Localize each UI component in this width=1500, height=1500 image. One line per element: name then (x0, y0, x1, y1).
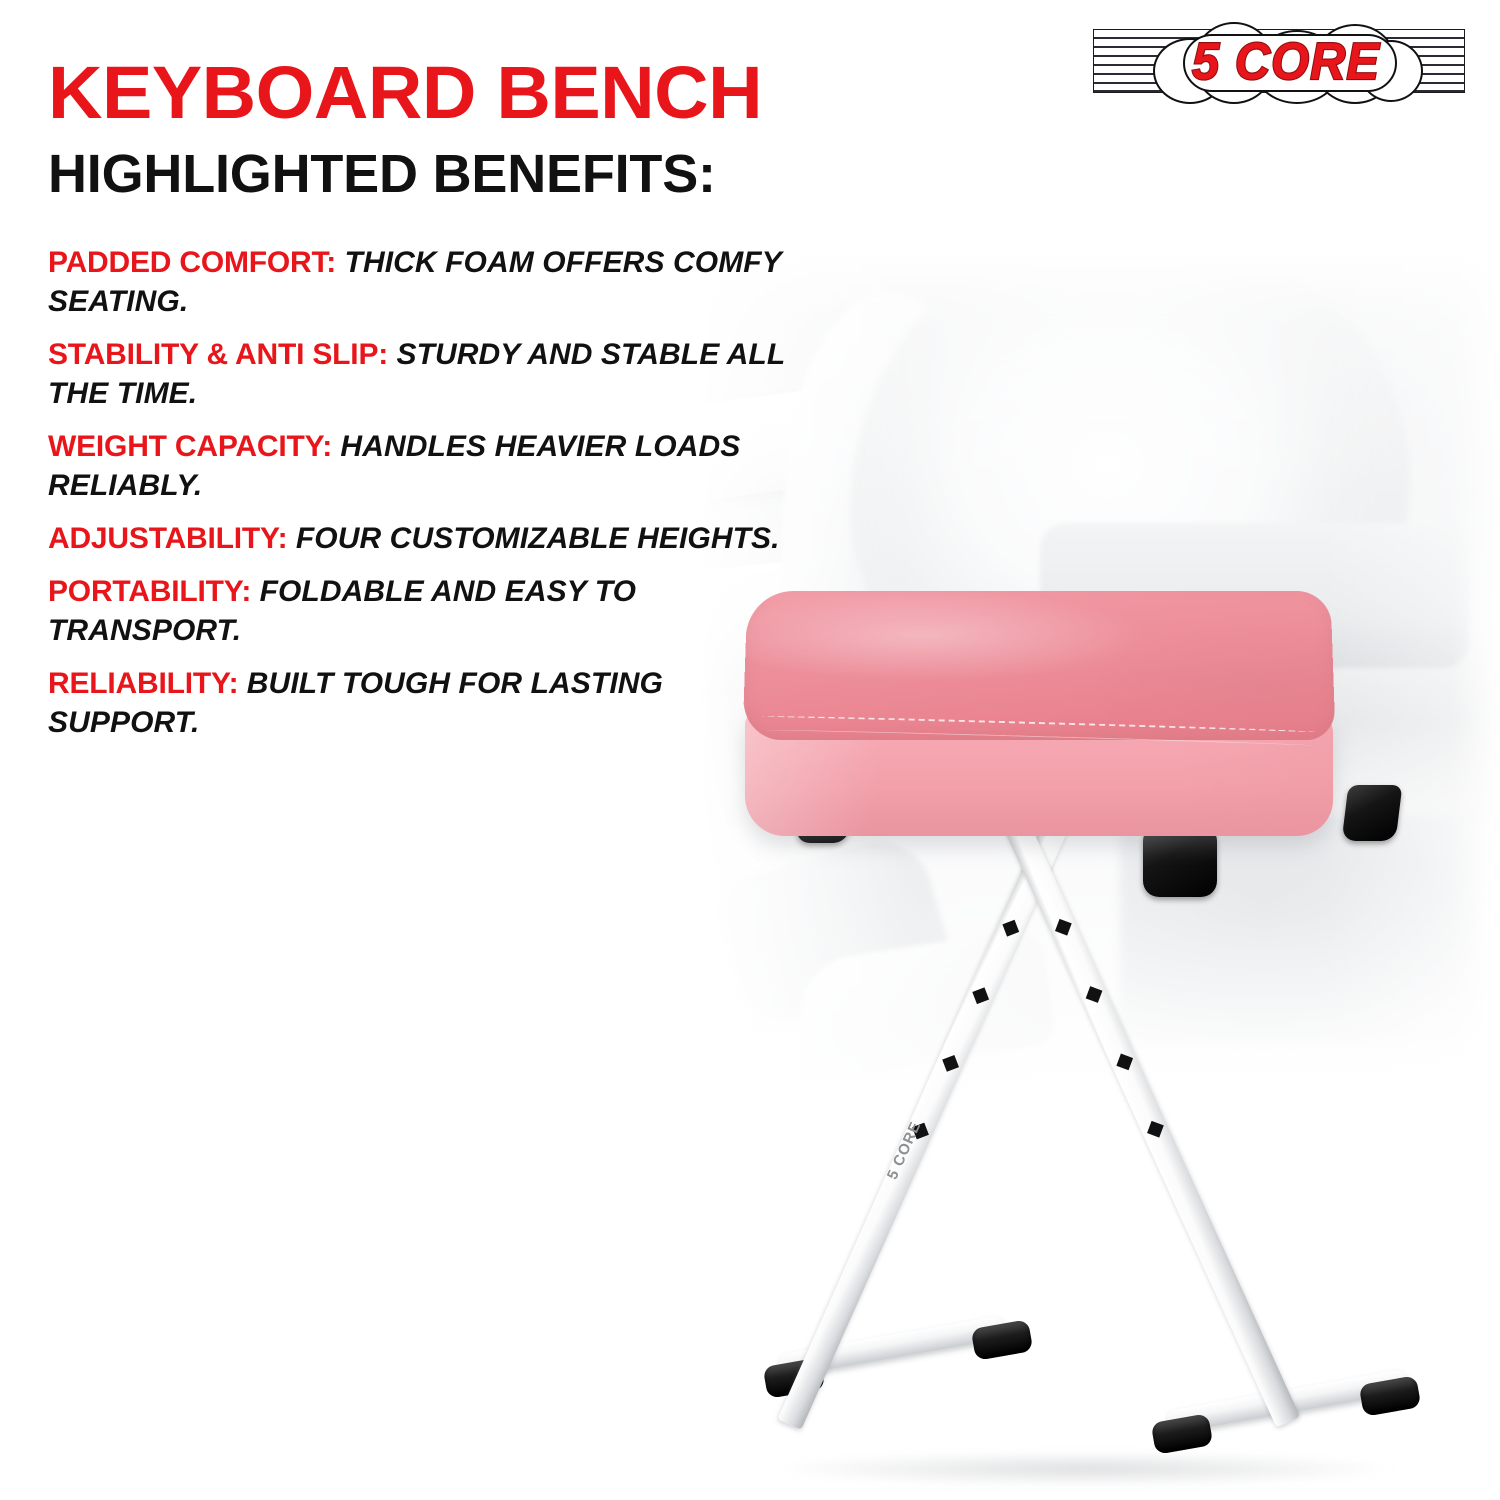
seat-bracket-right (1342, 785, 1403, 841)
benefit-item-reliability: RELIABILITY: BUILT TOUGH FOR LASTING SUP… (48, 664, 793, 742)
page-title: KEYBOARD BENCH (48, 57, 762, 128)
leg-brand-label: 5 CORE (884, 1119, 937, 1188)
logo-wordmark: 5 CORE (1154, 25, 1419, 97)
benefit-item-padded-comfort: PADDED COMFORT: THICK FOAM OFFERS COMFY … (48, 243, 793, 321)
page-subtitle: HIGHLIGHTED BENEFITS: (48, 147, 716, 201)
benefit-key: WEIGHT CAPACITY: (48, 430, 332, 463)
benefits-list: PADDED COMFORT: THICK FOAM OFFERS COMFY … (48, 243, 793, 756)
benefit-key: RELIABILITY: (48, 667, 238, 700)
benefit-text: FOUR CUSTOMIZABLE HEIGHTS. (287, 522, 779, 555)
seat-cushion (745, 590, 1333, 838)
product-infographic-page: KEYBOARD BENCH HIGHLIGHTED BENEFITS: PAD… (0, 0, 1500, 1500)
benefit-item-stability-anti-slip: STABILITY & ANTI SLIP: STURDY AND STABLE… (48, 335, 793, 413)
keyboard-bench-product: 5 CORE (735, 590, 1455, 1480)
5-core-logo: 5 CORE (1093, 29, 1465, 93)
benefit-key: PORTABILITY: (48, 575, 251, 608)
benefit-key: ADJUSTABILITY: (48, 522, 287, 555)
benefit-key: PADDED COMFORT: (48, 246, 336, 279)
product-floor-shadow (775, 1452, 1395, 1486)
benefit-item-weight-capacity: WEIGHT CAPACITY: HANDLES HEAVIER LOADS R… (48, 427, 793, 505)
benefit-key: STABILITY & ANTI SLIP: (48, 338, 388, 371)
benefit-item-portability: PORTABILITY: FOLDABLE AND EASY TO TRANSP… (48, 572, 793, 650)
benefit-item-adjustability: ADJUSTABILITY: FOUR CUSTOMIZABLE HEIGHTS… (48, 519, 793, 558)
rubber-end-cap-front-right (1151, 1413, 1214, 1455)
